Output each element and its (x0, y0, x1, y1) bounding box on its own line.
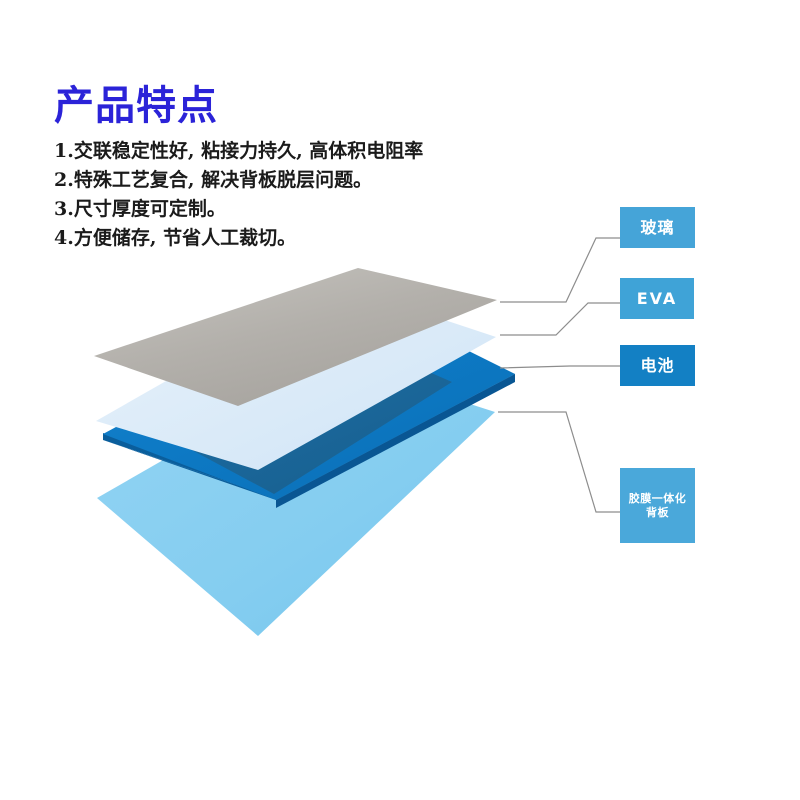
leader-line-eva (500, 303, 620, 335)
list-item: 1.交联稳定性好, 粘接力持久, 高体积电阻率 (54, 137, 524, 166)
feature-list: 1.交联稳定性好, 粘接力持久, 高体积电阻率 2.特殊工艺复合, 解决背板脱层… (54, 137, 524, 253)
page-title: 产品特点 (54, 85, 218, 127)
leader-line-backsheet (498, 412, 620, 512)
callout-label-backsheet[interactable]: 胶膜一体化 背板 (620, 468, 695, 543)
list-item: 3.尺寸厚度可定制。 (54, 195, 524, 224)
layer-glass (94, 268, 497, 406)
layer-backsheet (97, 361, 495, 636)
leader-lines (498, 238, 620, 512)
callout-backsheet-line2: 背板 (629, 506, 687, 519)
callout-label-eva[interactable]: EVA (620, 278, 694, 319)
layer-cell (103, 296, 515, 508)
callout-label-glass[interactable]: 玻璃 (620, 207, 695, 248)
list-item: 2.特殊工艺复合, 解决背板脱层问题。 (54, 166, 524, 195)
layer-eva (96, 284, 496, 470)
list-item: 4.方便储存, 节省人工裁切。 (54, 224, 524, 253)
callout-label-cell[interactable]: 电池 (620, 345, 695, 386)
callout-backsheet-line1: 胶膜一体化 (629, 492, 687, 505)
slide-canvas: 产品特点 1.交联稳定性好, 粘接力持久, 高体积电阻率 2.特殊工艺复合, 解… (0, 0, 800, 800)
leader-line-cell (500, 366, 620, 368)
